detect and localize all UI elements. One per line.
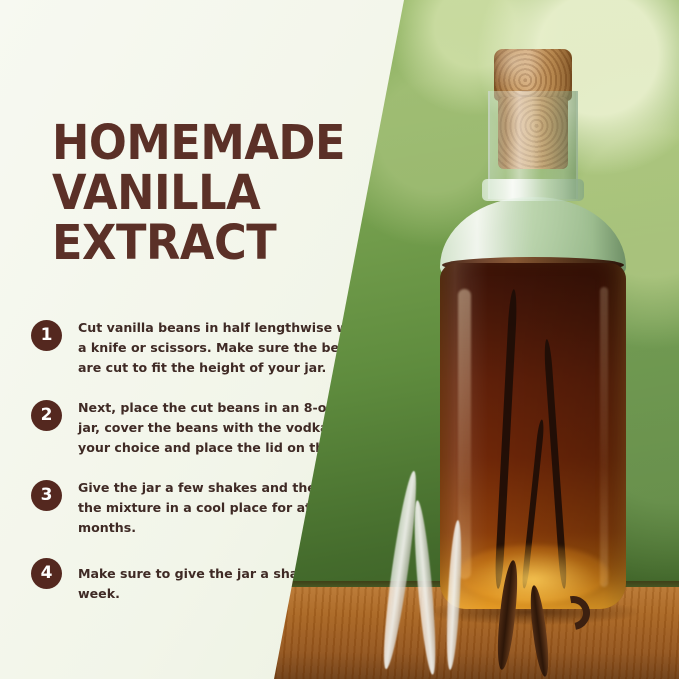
glass-highlight-right — [600, 287, 608, 587]
extract-bottle — [432, 39, 658, 609]
step-badge: 3 — [31, 480, 62, 511]
step-badge: 1 — [31, 320, 62, 351]
title-line-3: Extract — [52, 218, 368, 268]
step-badge: 2 — [31, 400, 62, 431]
title-line-1: Homemade — [52, 118, 368, 168]
recipe-infographic-card: Homemade Vanilla Extract 1 Cut vanilla b… — [0, 0, 679, 679]
step-text: Cut vanilla beans in half lengthwise wit… — [78, 318, 378, 378]
title-line-2: Vanilla — [52, 168, 368, 218]
page-title: Homemade Vanilla Extract — [52, 118, 368, 268]
step-badge: 4 — [31, 558, 62, 589]
